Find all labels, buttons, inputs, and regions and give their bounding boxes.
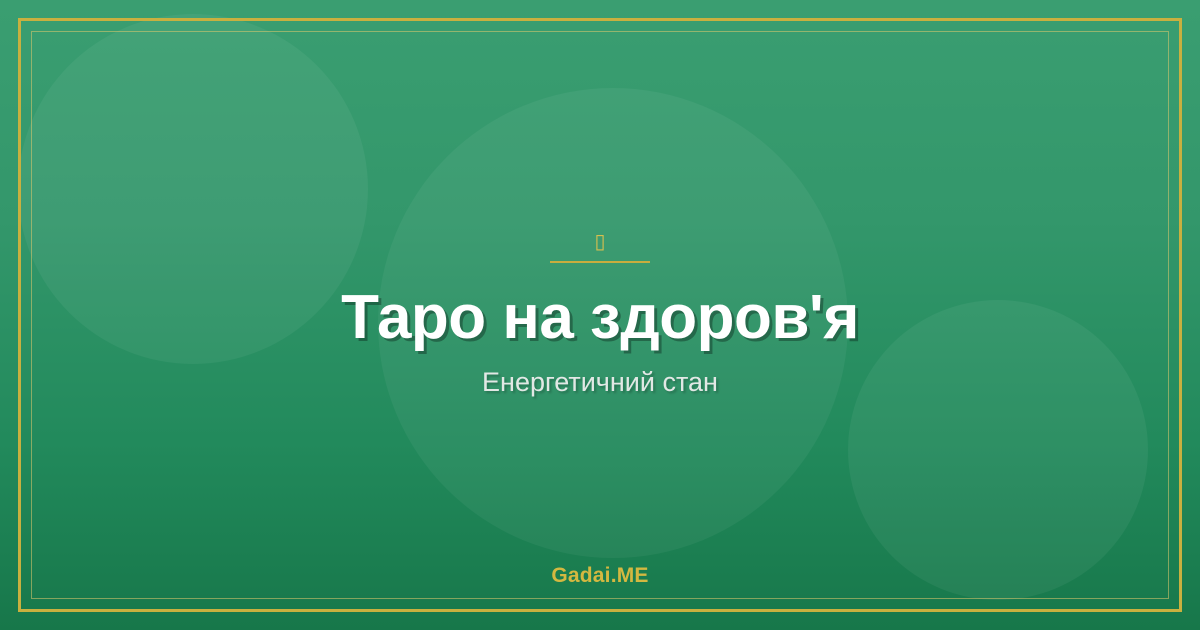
share-card: ▯ Таро на здоров'я Енергетичний стан Gad…: [0, 0, 1200, 630]
page-subtitle: Енергетичний стан: [482, 366, 718, 398]
card-content: ▯ Таро на здоров'я Енергетичний стан: [0, 0, 1200, 630]
gold-divider: [550, 261, 650, 263]
page-title: Таро на здоров'я: [341, 285, 859, 350]
brand-label: Gadai.ME: [0, 564, 1200, 588]
missing-glyph-box-icon: ▯: [594, 231, 605, 255]
